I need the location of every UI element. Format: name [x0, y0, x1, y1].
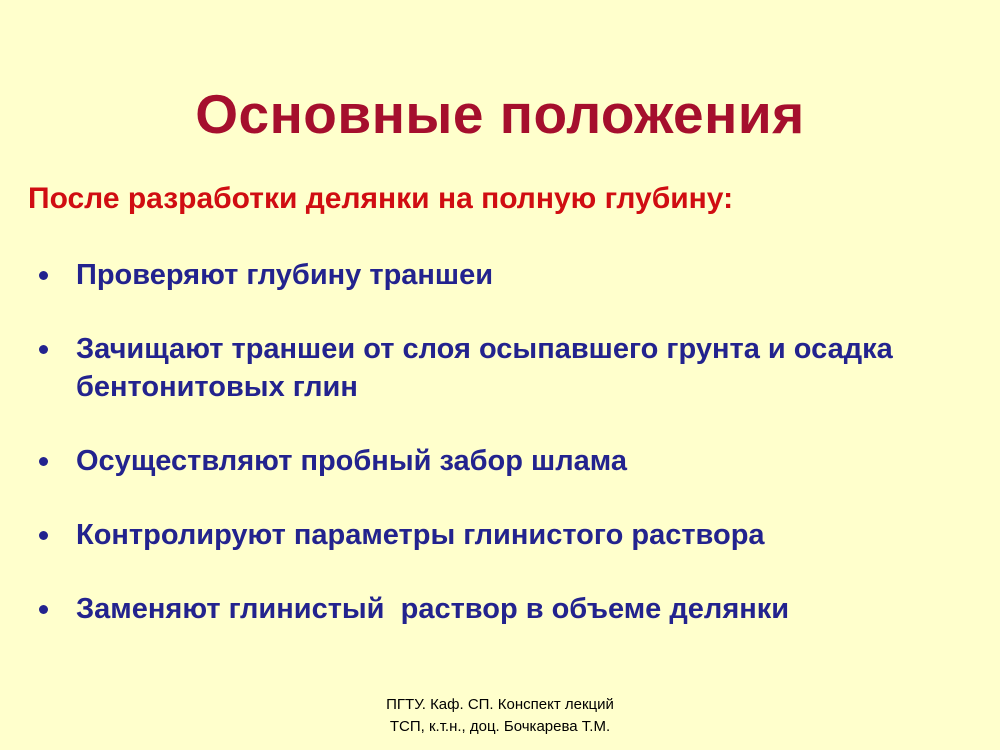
- bullet-dot-icon: [39, 605, 48, 614]
- lead-statement: После разработки делянки на полную глуби…: [28, 180, 972, 218]
- list-item: Зачищают траншеи от слоя осыпавшего грун…: [28, 330, 972, 406]
- list-item-label: Заменяют глинистый раствор в объеме деля…: [76, 590, 972, 628]
- bullet-dot-icon: [39, 531, 48, 540]
- footer-line-institution: ПГТУ. Каф. СП. Конспект лекций: [0, 694, 1000, 716]
- bullet-dot-icon: [39, 271, 48, 280]
- footer-line-author: ТСП, к.т.н., доц. Бочкарева Т.М.: [0, 716, 1000, 738]
- list-item: Проверяют глубину траншеи: [28, 256, 972, 294]
- slide-footer: ПГТУ. Каф. СП. Конспект лекций ТСП, к.т.…: [0, 694, 1000, 738]
- bullet-dot-icon: [39, 345, 48, 354]
- list-item: Осуществляют пробный забор шлама: [28, 442, 972, 480]
- list-item-label: Проверяют глубину траншеи: [76, 256, 972, 294]
- list-item-label: Осуществляют пробный забор шлама: [76, 442, 972, 480]
- list-item-label: Зачищают траншеи от слоя осыпавшего грун…: [76, 330, 972, 406]
- page-title: Основные положения: [0, 83, 1000, 145]
- bullet-dot-icon: [39, 457, 48, 466]
- list-item: Заменяют глинистый раствор в объеме деля…: [28, 590, 972, 628]
- slide-body: После разработки делянки на полную глуби…: [28, 180, 972, 628]
- presentation-slide: Основные положения После разработки деля…: [0, 0, 1000, 750]
- bullet-list: Проверяют глубину траншеи Зачищают транш…: [28, 256, 972, 628]
- list-item: Контролируют параметры глинистого раство…: [28, 516, 972, 554]
- list-item-label: Контролируют параметры глинистого раство…: [76, 516, 972, 554]
